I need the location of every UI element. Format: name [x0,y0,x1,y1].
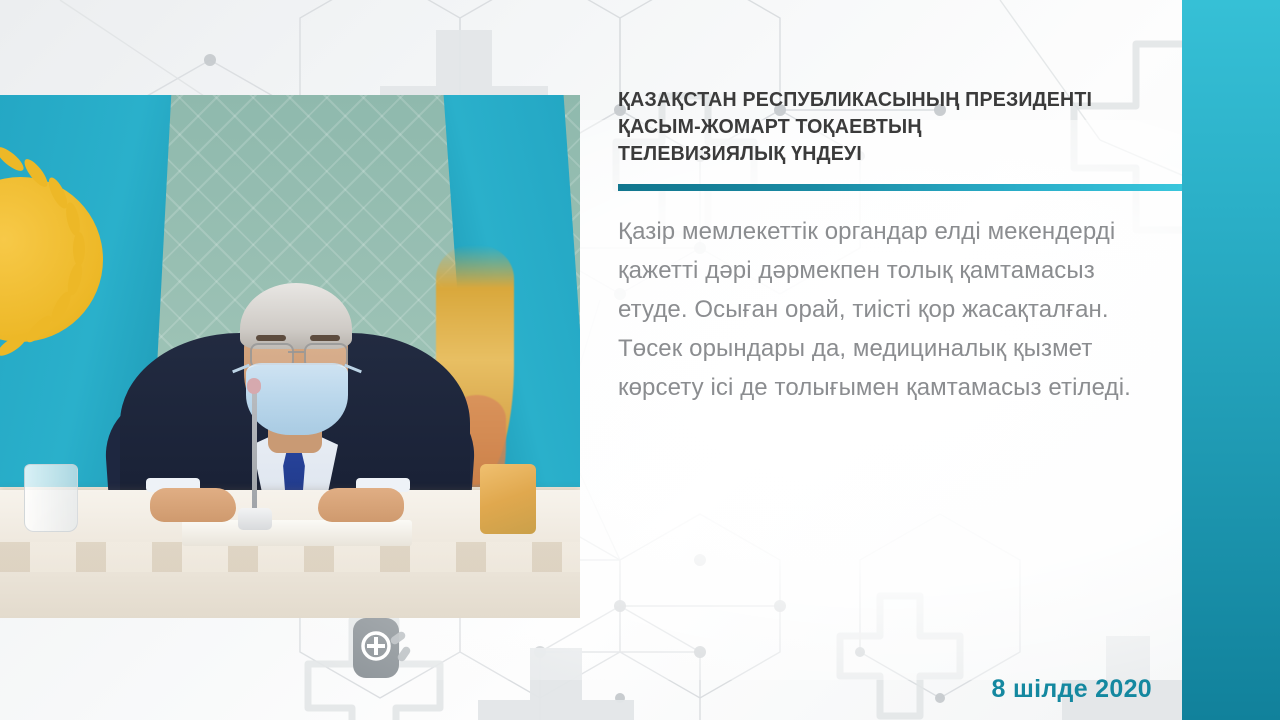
photo-microphone-base [238,508,272,530]
photo-hand-right [318,488,404,522]
accent-bar-right [1182,0,1280,720]
photo-water-glass [24,464,78,532]
title-divider [618,184,1182,191]
body-paragraph: Қазір мемлекеттік органдар елді мекендер… [618,212,1138,407]
photo-microphone-stem [252,386,257,514]
photo-eyebrow-left [256,335,286,341]
photo-surgical-mask [246,363,348,435]
photo-eyebrow-right [310,335,340,341]
date-label: 8 шілде 2020 [992,675,1152,704]
photo-hand-left [150,488,236,522]
cross-icon [478,648,634,720]
pill-icon [389,630,412,663]
cross-icon [308,620,440,720]
page-title: ҚАЗАҚСТАН РЕСПУБЛИКАСЫНЫҢ ПРЕЗИДЕНТІ ҚАС… [618,86,1149,167]
photo-microphone-head [247,378,261,394]
headline-line-2: ҚАСЫМ-ЖОМАРТ ТОҚАЕВТЫҢ [618,113,1149,140]
cross-icon [840,596,960,716]
photo-gold-ornament [480,464,536,534]
headline-line-3: ТЕЛЕВИЗИЯЛЫҚ ҮНДЕУІ [618,140,1149,167]
first-aid-kit-icon [353,618,399,678]
president-photo [0,95,580,618]
photo-eyeglass-bridge [288,351,304,353]
headline-line-1: ҚАЗАҚСТАН РЕСПУБЛИКАСЫНЫҢ ПРЕЗИДЕНТІ [618,86,1149,113]
photo-desk-nameplate [182,520,412,546]
presentation-slide: ҚАЗАҚСТАН РЕСПУБЛИКАСЫНЫҢ ПРЕЗИДЕНТІ ҚАС… [0,0,1280,720]
